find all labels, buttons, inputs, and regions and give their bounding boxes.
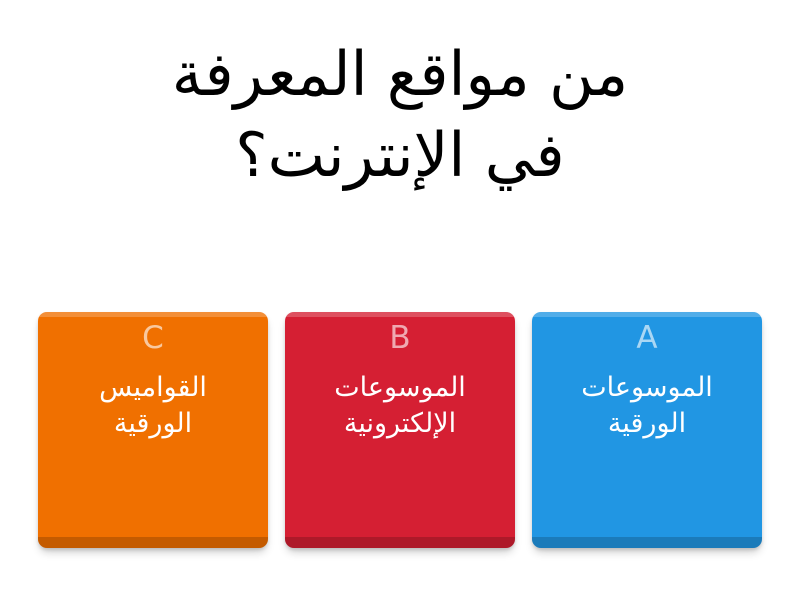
- answer-text-c: القواميس الورقية: [50, 370, 256, 441]
- question-area: من مواقع المعرفة في الإنترنت؟: [20, 34, 780, 284]
- answer-letter-c: C: [142, 323, 164, 354]
- answer-card-a[interactable]: A الموسوعات الورقية: [532, 312, 762, 548]
- answer-letter-b: B: [389, 323, 410, 354]
- answer-card-b[interactable]: B الموسوعات الإلكترونية: [285, 312, 515, 548]
- answer-text-a: الموسوعات الورقية: [544, 370, 750, 441]
- answer-options-row: A الموسوعات الورقية B الموسوعات الإلكترو…: [38, 312, 762, 552]
- answer-card-c[interactable]: C القواميس الورقية: [38, 312, 268, 548]
- answer-letter-a: A: [636, 323, 657, 354]
- answer-text-b: الموسوعات الإلكترونية: [297, 370, 503, 441]
- question-text: من مواقع المعرفة في الإنترنت؟: [172, 34, 628, 196]
- quiz-stage: من مواقع المعرفة في الإنترنت؟ A الموسوعا…: [0, 0, 800, 600]
